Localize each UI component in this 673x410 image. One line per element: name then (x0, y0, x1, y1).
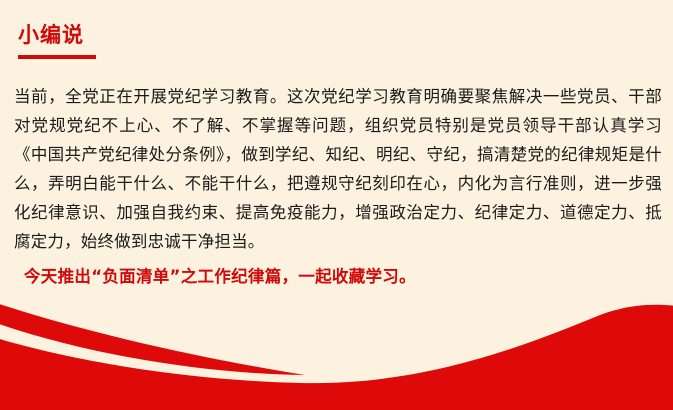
red-wave-svg (0, 290, 673, 410)
body-paragraph: 当前，全党正在开展党纪学习教育。这次党纪学习教育明确要聚焦解决一些党员、干部对党… (14, 82, 662, 256)
header-block: 小编说 (18, 22, 218, 59)
red-ribbon-crescent (0, 303, 305, 375)
body-copy: 当前，全党正在开展党纪学习教育。这次党纪学习教育明确要聚焦解决一些党员、干部对党… (14, 82, 662, 256)
poster-card: 小编说 当前，全党正在开展党纪学习教育。这次党纪学习教育明确要聚焦解决一些党员、… (0, 0, 673, 410)
callout-line: 今天推出“负面清单”之工作纪律篇，一起收藏学习。 (24, 264, 416, 290)
wave-decoration (0, 290, 673, 410)
red-wave-banner (0, 305, 673, 410)
page-title: 小编说 (18, 22, 218, 48)
title-underline-rule (18, 55, 96, 59)
